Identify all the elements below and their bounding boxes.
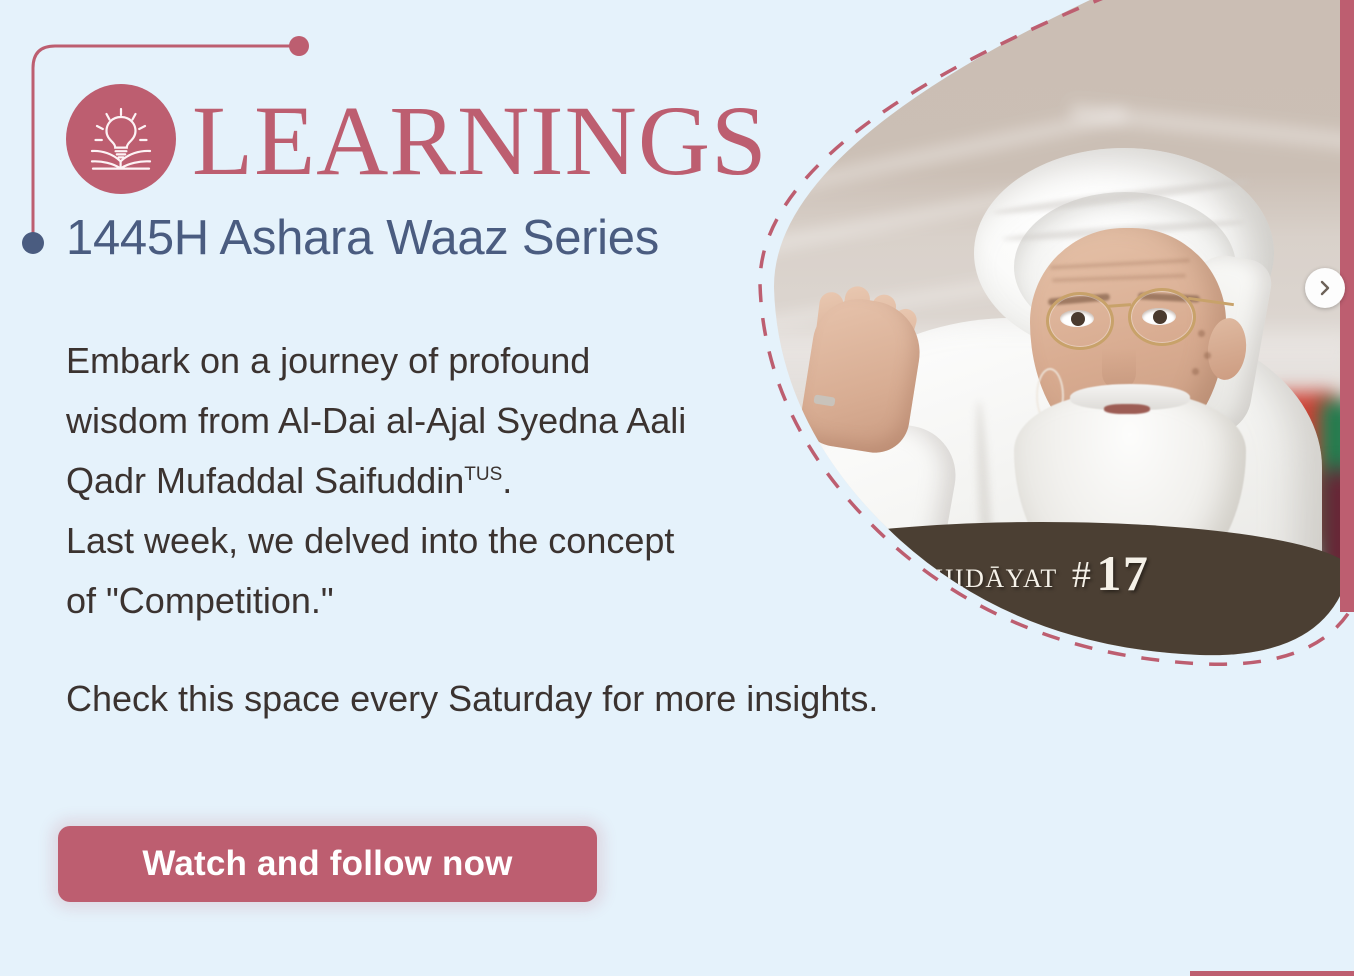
brand-wordmark: LEARNINGS <box>192 91 768 191</box>
brand-logo <box>66 84 176 194</box>
body-copy: Embark on a journey of profound wisdom f… <box>66 331 706 729</box>
bracket-dot-rose <box>289 36 309 56</box>
spectacles-lens <box>1046 292 1114 350</box>
paragraph-1-period: . <box>502 460 512 501</box>
hidayat-caption-text: Hidāyat#17 <box>935 544 1150 602</box>
paragraph-1-line-2: Last week, we delved into the concept of… <box>66 520 674 621</box>
cheek-mark <box>1192 368 1199 375</box>
bottom-accent-rule <box>1190 971 1354 976</box>
speaker-photo: Hidāyat#17 <box>730 0 1354 660</box>
learnings-promo-card: Hidāyat#17 <box>0 0 1354 976</box>
body-paragraph-2: Check this space every Saturday for more… <box>66 669 1086 729</box>
bracket-dot-blue <box>22 232 44 254</box>
cheek-mark <box>1204 352 1211 359</box>
hidayat-number: 17 <box>1096 545 1149 601</box>
watch-and-follow-button[interactable]: Watch and follow now <box>58 826 597 902</box>
cheek-mark <box>1198 330 1205 337</box>
carousel-next-button[interactable] <box>1305 268 1345 308</box>
lightbulb-book-icon <box>84 102 158 176</box>
hidayat-caption-band: Hidāyat#17 <box>730 522 1354 660</box>
chevron-right-icon <box>1316 279 1334 297</box>
figure-mouth <box>1104 404 1150 414</box>
honorific-superscript: TUS <box>464 464 502 485</box>
hidayat-word: Hidāyat <box>935 555 1058 596</box>
paragraph-1-text: Embark on a journey of profound wisdom f… <box>66 340 686 501</box>
body-paragraph-1: Embark on a journey of profound wisdom f… <box>66 331 706 631</box>
spectacles-lens <box>1128 288 1196 346</box>
next-slide-peek-strip <box>1340 0 1354 612</box>
brand-row: LEARNINGS <box>66 84 768 194</box>
hidayat-hash: # <box>1058 554 1097 596</box>
page-title: 1445H Ashara Waaz Series <box>66 210 659 266</box>
